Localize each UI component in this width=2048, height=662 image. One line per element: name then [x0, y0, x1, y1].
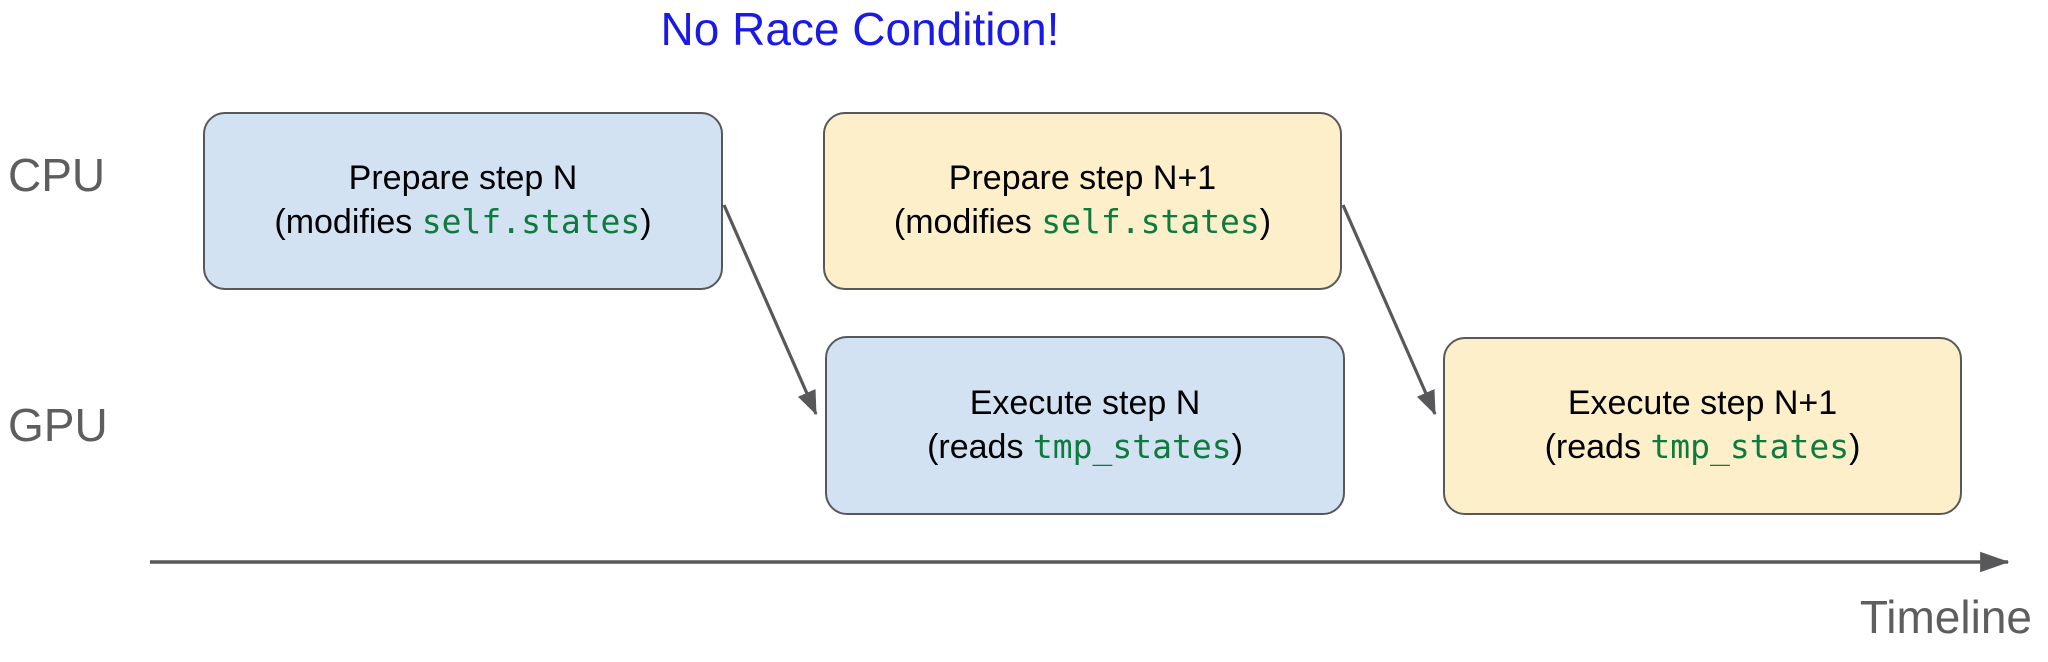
box-subtitle-prefix: (reads [1545, 428, 1651, 466]
process-box-gpu-step-n[interactable]: Execute step N (reads tmp_states) [825, 336, 1345, 515]
box-subtitle-prefix: (modifies [274, 203, 421, 241]
box-title-cpu-step-n: Prepare step N [349, 157, 578, 201]
lane-label-cpu: CPU [8, 148, 105, 202]
box-title-gpu-step-n-plus-1: Execute step N+1 [1568, 382, 1837, 426]
box-title-gpu-step-n: Execute step N [970, 382, 1201, 426]
code-token-self-states: self.states [422, 202, 641, 241]
box-subtitle-suffix: ) [1260, 203, 1271, 241]
process-box-cpu-step-n[interactable]: Prepare step N (modifies self.states) [203, 112, 723, 290]
arrow-cpu-n1-to-gpu-n1 [1343, 205, 1435, 414]
process-box-cpu-step-n-plus-1[interactable]: Prepare step N+1 (modifies self.states) [823, 112, 1342, 290]
box-subtitle-prefix: (modifies [894, 203, 1041, 241]
code-token-tmp-states: tmp_states [1033, 427, 1232, 466]
box-subtitle-gpu-step-n-plus-1: (reads tmp_states) [1545, 426, 1861, 470]
box-subtitle-prefix: (reads [927, 428, 1033, 466]
arrow-cpu-n-to-gpu-n [724, 205, 816, 414]
process-box-gpu-step-n-plus-1[interactable]: Execute step N+1 (reads tmp_states) [1443, 337, 1962, 515]
diagram-canvas: No Race Condition! CPU GPU Prepare step … [0, 0, 2048, 662]
diagram-overlay [0, 0, 2048, 662]
code-token-self-states: self.states [1041, 202, 1260, 241]
box-title-cpu-step-n-plus-1: Prepare step N+1 [949, 157, 1216, 201]
box-subtitle-gpu-step-n: (reads tmp_states) [927, 426, 1243, 470]
lane-label-gpu: GPU [8, 398, 108, 452]
box-subtitle-cpu-step-n-plus-1: (modifies self.states) [894, 201, 1271, 245]
timeline-axis-label: Timeline [1600, 590, 2032, 644]
box-subtitle-cpu-step-n: (modifies self.states) [274, 201, 651, 245]
box-subtitle-suffix: ) [1232, 428, 1243, 466]
diagram-title: No Race Condition! [0, 2, 1720, 56]
code-token-tmp-states: tmp_states [1650, 427, 1849, 466]
box-subtitle-suffix: ) [1849, 428, 1860, 466]
box-subtitle-suffix: ) [640, 203, 651, 241]
